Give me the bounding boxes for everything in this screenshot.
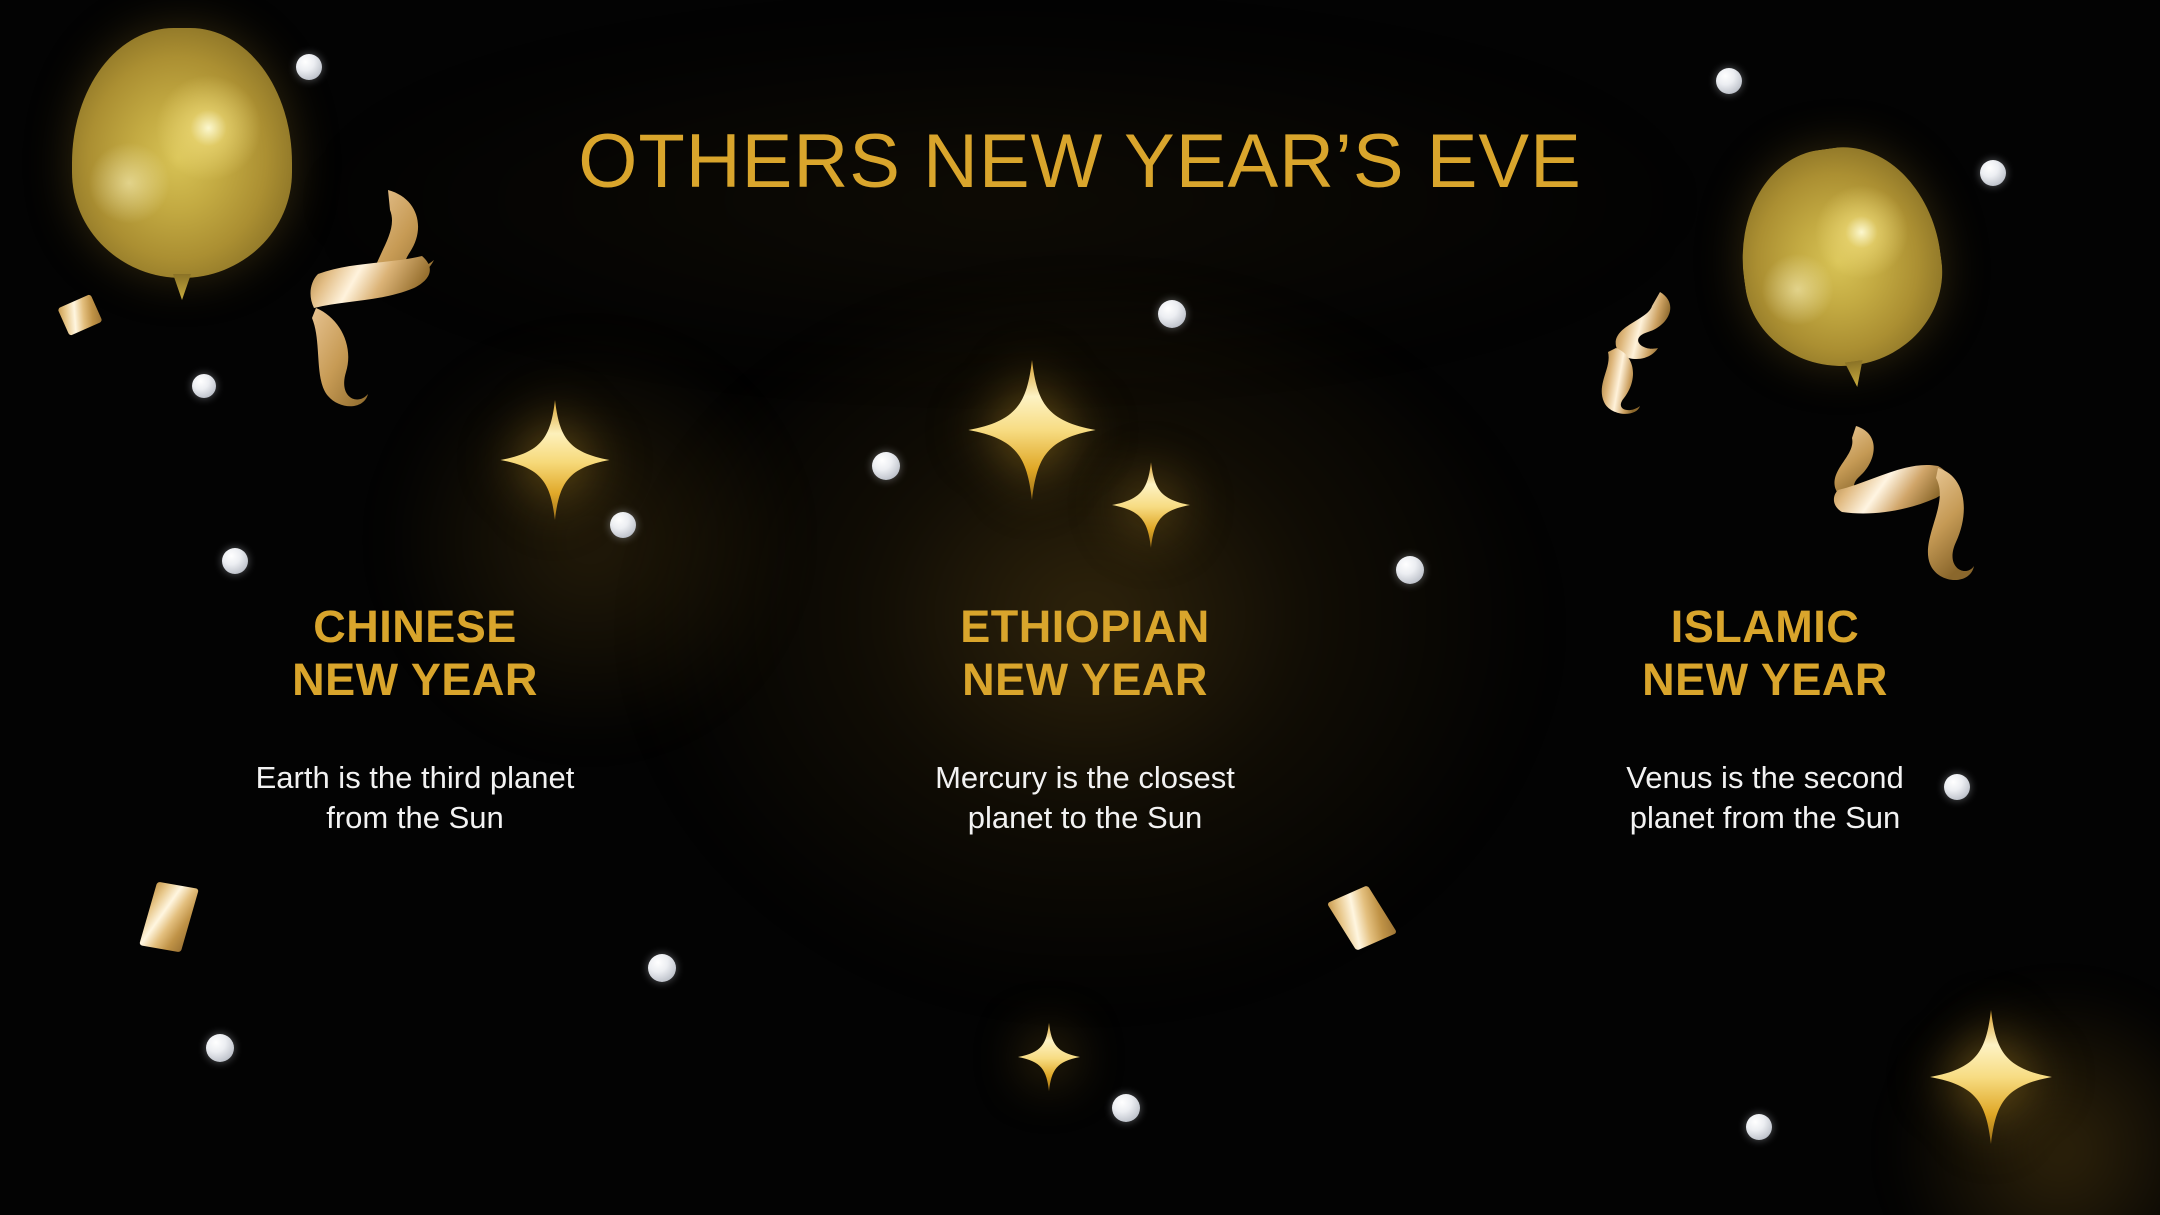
gold-ribbon-right-upper-icon [1596,286,1706,416]
page-title: OTHERS NEW YEAR’S EVE [0,118,2160,205]
white-dot [648,954,676,982]
column-heading-islamic: ISLAMIC NEW YEAR [1590,600,1940,706]
column-heading-chinese: CHINESE NEW YEAR [240,600,590,706]
column-heading-ethiopian: ETHIOPIAN NEW YEAR [910,600,1260,706]
white-dot [296,54,322,80]
white-dot [1746,1114,1772,1140]
sparkle-center-large-icon [968,360,1096,500]
white-dot [1396,556,1424,584]
balloon-knot [173,274,191,300]
white-dot [1716,68,1742,94]
sparkle-bottom-right-icon [1930,1010,2052,1144]
new-year-columns: CHINESE NEW YEAR Earth is the third plan… [0,600,2160,838]
column-body-ethiopian: Mercury is the closest planet to the Sun [910,758,1260,837]
column-ethiopian-new-year: ETHIOPIAN NEW YEAR Mercury is the closes… [740,600,1440,838]
balloon-knot [1845,360,1866,388]
slide-canvas: OTHERS NEW YEAR’S EVE CHINESE NEW YEAR E… [0,0,2160,1215]
column-chinese-new-year: CHINESE NEW YEAR Earth is the third plan… [0,600,740,838]
gold-ribbon-top-left-icon [310,176,470,416]
gold-ribbon-right-lower-icon [1820,420,1980,600]
column-body-islamic: Venus is the second planet from the Sun [1590,758,1940,837]
white-dot [1158,300,1186,328]
white-dot [206,1034,234,1062]
confetti-piece [139,882,199,953]
white-dot [610,512,636,538]
sparkle-left-icon [500,400,610,520]
confetti-piece [1327,885,1397,951]
column-body-chinese: Earth is the third planet from the Sun [240,758,590,837]
white-dot [872,452,900,480]
sparkle-bottom-center-icon [1018,1022,1080,1092]
white-dot [1112,1094,1140,1122]
confetti-piece [57,294,102,336]
sparkle-center-small-icon [1112,462,1190,548]
white-dot [222,548,248,574]
white-dot [192,374,216,398]
column-islamic-new-year: ISLAMIC NEW YEAR Venus is the second pla… [1440,600,2160,838]
